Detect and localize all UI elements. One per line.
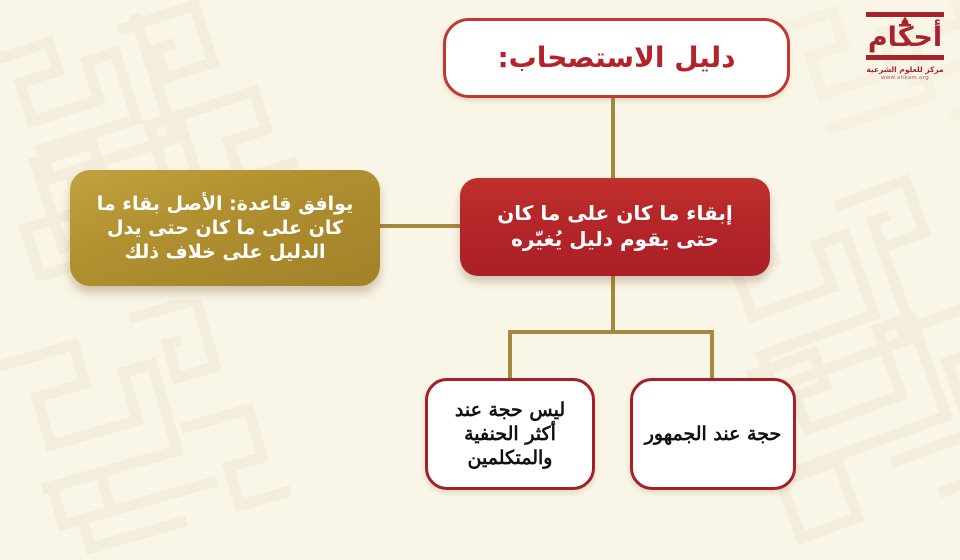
diagram-leaf-node-left[interactable]: ليس حجة عند أكثر الحنفية والمتكلمين: [425, 378, 595, 490]
logo-subtitle: مركز للعلوم الشرعية: [866, 65, 943, 74]
brand-logo[interactable]: أحكام مركز للعلوم الشرعية www.ahkam.org: [858, 12, 952, 98]
diagram-main-label: إبقاء ما كان على ما كان حتى يقوم دليل يُ…: [460, 201, 770, 252]
diagram-leaf-left-label: ليس حجة عند أكثر الحنفية والمتكلمين: [428, 398, 592, 471]
diagram-rule-label: يوافق قاعدة: الأصل بقاء ما كان على ما كا…: [70, 192, 380, 265]
diagram-leaf-node-right[interactable]: حجة عند الجمهور: [630, 378, 796, 490]
diagram-title-label: دليل الاستصحاب:: [446, 40, 787, 76]
connector-title-to-main: [611, 96, 615, 180]
connector-to-leaf-right: [710, 330, 714, 380]
diagram-rule-node[interactable]: يوافق قاعدة: الأصل بقاء ما كان على ما كا…: [70, 170, 380, 286]
connector-main-down: [611, 274, 615, 332]
diagram-title-node[interactable]: دليل الاستصحاب:: [443, 18, 790, 98]
connector-main-to-rule: [378, 224, 464, 228]
diagram-leaf-right-label: حجة عند الجمهور: [633, 422, 793, 446]
watermark-bottom-left: [0, 300, 290, 560]
diagram-main-node[interactable]: إبقاء ما كان على ما كان حتى يقوم دليل يُ…: [460, 178, 770, 276]
logo-mark: أحكام: [862, 12, 948, 62]
connector-to-leaf-left: [508, 330, 512, 380]
logo-wordmark: أحكام: [862, 12, 948, 62]
logo-url: www.ahkam.org: [881, 75, 929, 81]
connector-split-bar: [508, 330, 714, 334]
diagram-canvas: دليل الاستصحاب: إبقاء ما كان على ما كان …: [0, 0, 960, 540]
